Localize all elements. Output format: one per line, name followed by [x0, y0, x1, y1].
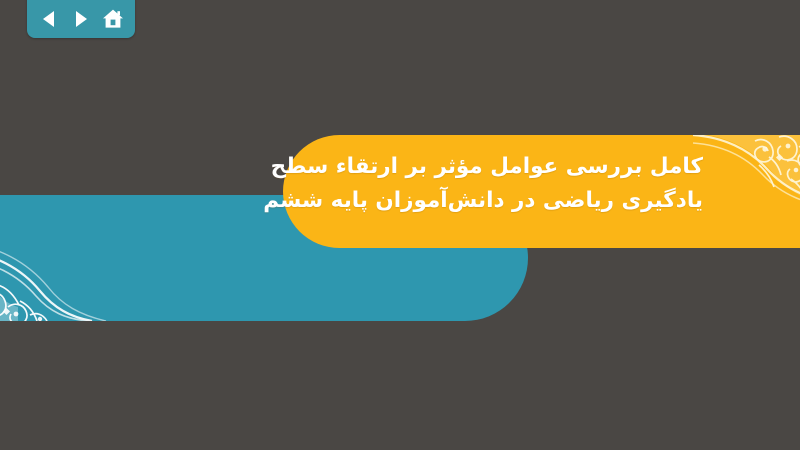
arabesque-ornament-orange [693, 135, 800, 248]
slide-canvas: کامل بررسی عوامل مؤثر بر ارتقاء سطح یادگ… [0, 0, 800, 450]
arabesque-ornament-teal [0, 195, 150, 321]
home-button[interactable] [100, 6, 126, 32]
previous-triangle-icon [38, 8, 60, 30]
next-slide-button[interactable] [68, 6, 94, 32]
next-triangle-icon [70, 8, 92, 30]
orange-banner [283, 135, 800, 248]
home-icon [101, 7, 125, 31]
navigation-toolbar [27, 0, 135, 38]
previous-slide-button[interactable] [36, 6, 62, 32]
